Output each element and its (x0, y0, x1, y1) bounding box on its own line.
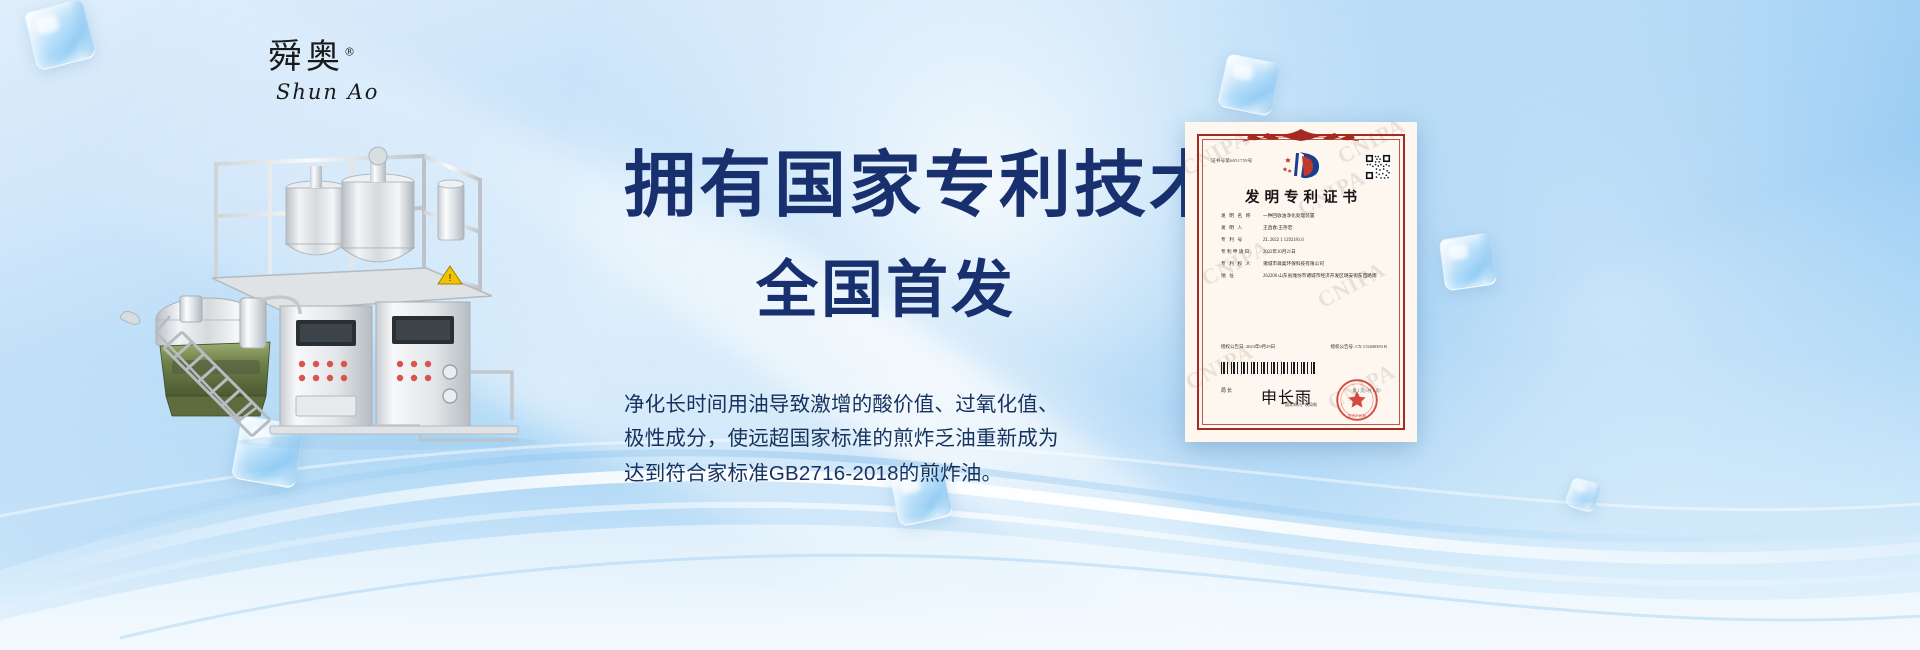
certificate-barcode (1221, 362, 1317, 374)
patent-certificate: CNIPA CNIPA CNIPA CNIPA CNIPA CNIPA CNIP… (1185, 122, 1417, 442)
cnipa-emblem-icon (1278, 150, 1324, 180)
brand-logo-cn: 舜奥® (268, 40, 388, 74)
certificate-field: 专 利 权 人 诸城市舜奥环保科技有限公司 (1221, 262, 1387, 268)
certificate-title: 发明专利证书 (1199, 186, 1403, 207)
certificate-fields: 发 明 名 称 一种回收油净化处理装置 发 明 人 王直春;王存宏 专 利 号 … (1221, 214, 1387, 286)
field-key: 专 利 号 (1221, 238, 1263, 244)
official-seal-icon: 知识产权局 (1335, 378, 1379, 422)
machine-base (270, 426, 518, 434)
ice-cube (1564, 476, 1602, 514)
field-value: 2022年10月21日 (1263, 250, 1387, 256)
certificate-serial-number: 证书号第6051759号 (1211, 158, 1252, 164)
field-key: 发 明 人 (1221, 226, 1263, 232)
certificate-field: 专 利 号 ZL 2022 1 1292181.6 (1221, 238, 1387, 244)
brand-logo-pinyin: Shun Ao (276, 80, 388, 104)
field-value: 一种回收油净化处理装置 (1263, 214, 1387, 220)
field-key: 发 明 名 称 (1221, 214, 1263, 220)
certificate-field: 地 址 262200 山东省潍坊市诸城市经济开发区璐安街东首路南 (1221, 274, 1387, 280)
grant-date: 授权公告日: 2023年9月29日 (1221, 344, 1275, 350)
machine-shadow (238, 434, 538, 450)
page-title: 拥有国家专利技术 (624, 150, 1154, 222)
field-value: 诸城市舜奥环保科技有限公司 (1263, 262, 1387, 268)
machine-tanks (286, 147, 464, 262)
field-value: 262200 山东省潍坊市诸城市经济开发区璐安街东首路南 (1263, 274, 1387, 280)
ice-cube (1217, 53, 1281, 117)
svg-text:知识产权局: 知识产权局 (1348, 413, 1367, 418)
certificate-ornament-icon (1241, 127, 1361, 145)
oil-purification-machine-illustration: ! (120, 120, 660, 460)
certificate-border: 证书号第6051759号 (1197, 134, 1405, 430)
registered-trademark-icon: ® (344, 46, 355, 59)
certificate-footer: 国家知识产权局制 (1199, 402, 1403, 408)
page-subtitle: 全国首发 (624, 260, 1154, 322)
ice-cube (24, 0, 97, 71)
brand-logo-cn-text: 舜奥 (268, 37, 344, 77)
field-value: 王直春;王存宏 (1263, 226, 1387, 232)
certificate-dates: 授权公告日: 2023年9月29日 授权公告号: CN 115400393 B (1221, 344, 1387, 350)
announcement-number: 授权公告号: CN 115400393 B (1331, 344, 1387, 350)
description-text: 净化长时间用油导致激增的酸价值、过氧化值、极性成分，使远超国家标准的煎炸乏油重新… (624, 388, 1076, 491)
certificate-field: 发 明 人 王直春;王存宏 (1221, 226, 1387, 232)
field-value: ZL 2022 1 1292181.6 (1263, 238, 1387, 244)
qr-code-icon (1365, 154, 1391, 180)
brand-logo: 舜奥® Shun Ao (268, 40, 388, 120)
ice-cube (1439, 233, 1498, 292)
promo-banner: 舜奥® Shun Ao (0, 0, 1920, 650)
svg-text:!: ! (449, 273, 452, 284)
headline-block: 拥有国家专利技术 全国首发 净化长时间用油导致激增的酸价值、过氧化值、极性成分，… (624, 150, 1154, 491)
field-key: 地 址 (1221, 274, 1263, 280)
certificate-field: 专利申请日 2022年10月21日 (1221, 250, 1387, 256)
certificate-page-note: 第 1 页（共 1 页） (1353, 389, 1383, 394)
certificate-field: 发 明 名 称 一种回收油净化处理装置 (1221, 214, 1387, 220)
field-key: 专 利 权 人 (1221, 262, 1263, 268)
field-key: 专利申请日 (1221, 250, 1263, 256)
certificate-office-label: 局长 (1221, 388, 1233, 396)
